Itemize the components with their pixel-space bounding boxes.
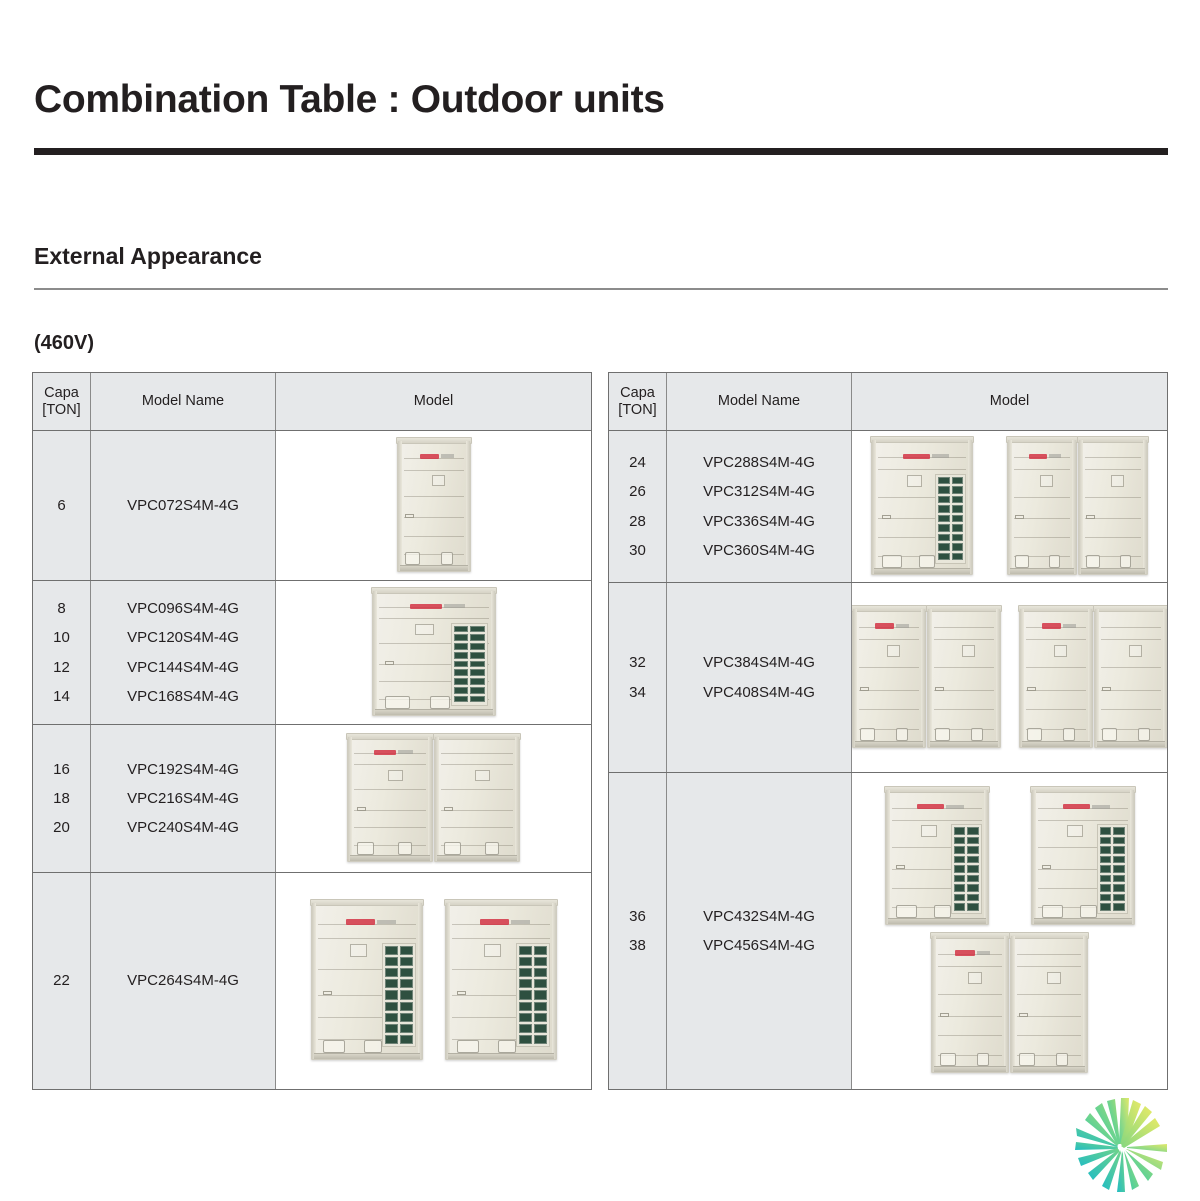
unit-foot (364, 1040, 382, 1053)
outdoor-unit (1094, 608, 1168, 748)
table-header-row-right: Capa [TON] Model Name Model (609, 373, 1167, 431)
grille-tile (952, 543, 964, 551)
unit-grille (516, 943, 550, 1047)
grille-tile (454, 696, 469, 703)
unit-seam (1101, 667, 1161, 668)
unit-seam (1085, 469, 1141, 470)
grille-tile (454, 626, 469, 633)
lennox-wordmark (875, 623, 894, 629)
lennox-wordmark (955, 950, 975, 956)
unit-seam (1038, 820, 1128, 821)
outdoor-unit (397, 440, 471, 572)
unit-artwork-two-wide-grille (276, 873, 591, 1089)
lennox-logo-icon (875, 623, 909, 629)
unit-vent-tick (357, 807, 366, 811)
unit-post-right (1143, 440, 1147, 574)
unit-panel (1008, 440, 1076, 574)
grille-tile (385, 1002, 398, 1011)
unit-foot (919, 555, 935, 568)
unit-seam (404, 496, 464, 497)
unit-base-rail (1034, 918, 1132, 924)
lennox-logo-icon (346, 919, 396, 925)
outdoor-unit (852, 608, 926, 748)
unit-vent-tick (444, 807, 453, 811)
grille-tile (1113, 875, 1125, 883)
unit-seam (859, 639, 919, 640)
outdoor-unit (927, 608, 1001, 748)
unit-access-hatch (1054, 645, 1067, 657)
lennox-tagline (1063, 624, 1076, 628)
unit-access-hatch (475, 770, 490, 781)
grille-tile (1113, 894, 1125, 902)
unit-access-hatch (968, 972, 982, 984)
grille-tile (1113, 846, 1125, 854)
unit-foot (1138, 728, 1150, 741)
grille-tile (470, 634, 485, 641)
column-header-model-name: Model Name (91, 373, 276, 430)
unit-pair (1007, 439, 1148, 575)
unit-foot (977, 1053, 989, 1066)
grille-tile (938, 505, 950, 513)
unit-vent-tick (1015, 515, 1024, 519)
grille-tile (400, 1013, 413, 1022)
grille-tile (952, 486, 964, 494)
unit-base-rail (930, 741, 998, 747)
lennox-tagline (977, 951, 990, 955)
unit-panel (373, 591, 495, 715)
grille-tile (1100, 884, 1112, 892)
table-row: 22 VPC264S4M-4G (33, 873, 591, 1089)
unit-post-right (1072, 440, 1076, 574)
grille-tile (454, 643, 469, 650)
lennox-wordmark (410, 604, 442, 609)
unit-seam (1101, 627, 1161, 628)
table-row: 6 VPC072S4M-4G (33, 431, 591, 581)
unit-seam (354, 789, 426, 790)
capa-header-line2: [TON] (42, 402, 80, 419)
grille-tile (1100, 865, 1112, 873)
unit-foot (405, 552, 420, 565)
unit-access-hatch (1129, 645, 1142, 657)
unit-post-right (1163, 609, 1167, 747)
unit-panel (1079, 440, 1147, 574)
unit-vent-tick (1019, 1013, 1028, 1017)
unit-artwork-single-narrow (276, 431, 591, 580)
cell-model-name: VPC432S4M-4G VPC456S4M-4G (667, 773, 852, 1089)
unit-base-rail (350, 855, 430, 861)
unit-seam (1101, 639, 1161, 640)
unit-seam (1017, 954, 1081, 955)
unit-foot (940, 1053, 956, 1066)
unit-foot (444, 842, 461, 855)
unit-base-rail (855, 741, 923, 747)
unit-panel (932, 936, 1008, 1072)
lennox-logo-icon (1063, 804, 1110, 809)
unit-seam (859, 667, 919, 668)
grille-tile (1113, 837, 1125, 845)
page-title: Combination Table : Outdoor units (34, 78, 665, 122)
unit-base-rail (448, 1053, 554, 1059)
grille-tile (1100, 903, 1112, 911)
grille-tile (967, 903, 979, 911)
grille-tile (938, 534, 950, 542)
unit-seam (892, 820, 982, 821)
unit-seam (354, 764, 426, 765)
unit-post-right (921, 609, 925, 747)
unit-access-hatch (887, 645, 900, 657)
grille-tile (454, 678, 469, 685)
grille-tile (967, 894, 979, 902)
capa-header-line1: Capa (42, 385, 80, 402)
unit-artwork-single-wide-grille (276, 581, 591, 724)
lennox-tagline (896, 624, 909, 628)
unit-access-hatch (388, 770, 403, 781)
cell-model-name: VPC072S4M-4G (91, 431, 276, 580)
unit-vent-tick (860, 687, 869, 691)
cell-model-image (276, 581, 591, 724)
cell-model-image (276, 873, 591, 1089)
grille-tile (938, 496, 950, 504)
unit-seam (441, 827, 513, 828)
cell-capa: 24 26 28 30 (609, 431, 667, 582)
unit-post-right (984, 790, 988, 924)
grille-tile (519, 1024, 532, 1033)
grille-tile (967, 827, 979, 835)
unit-seam (354, 827, 426, 828)
lennox-tagline (377, 920, 396, 924)
outdoor-unit (885, 789, 989, 925)
lennox-tagline (441, 454, 454, 458)
outdoor-unit (311, 902, 423, 1060)
grille-tile (454, 634, 469, 641)
unit-seam (934, 667, 994, 668)
outdoor-unit (1010, 935, 1088, 1073)
grille-tile (954, 875, 966, 883)
unit-base-rail (1081, 568, 1145, 574)
grille-tile (1100, 846, 1112, 854)
lennox-logo-icon (410, 604, 465, 609)
cell-model-name: VPC384S4M-4G VPC408S4M-4G (667, 583, 852, 772)
grille-tile (470, 652, 485, 659)
unit-seam (441, 764, 513, 765)
unit-access-hatch (962, 645, 975, 657)
table-header-row-left: Capa [TON] Model Name Model (33, 373, 591, 431)
lennox-wordmark (1029, 454, 1047, 459)
capa-header-line1: Capa (618, 385, 656, 402)
cell-model-name: VPC264S4M-4G (91, 873, 276, 1089)
grille-tile (952, 496, 964, 504)
unit-post-left (1011, 936, 1015, 1072)
unit-base-rail (375, 709, 493, 715)
unit-seam (441, 753, 513, 754)
grille-tile (519, 990, 532, 999)
unit-foot (357, 842, 374, 855)
unit-seam (878, 469, 966, 470)
unit-panel (1011, 936, 1087, 1072)
unit-panel (446, 903, 556, 1059)
unit-foot (971, 728, 983, 741)
unit-artwork-pair-narrow (276, 725, 591, 872)
section-title: External Appearance (34, 243, 262, 270)
grille-tile (952, 534, 964, 542)
grille-tile (952, 524, 964, 532)
grille-tile (385, 990, 398, 999)
lennox-logo-icon (917, 804, 964, 809)
unit-post-right (968, 440, 972, 574)
unit-seam (1014, 469, 1070, 470)
outdoor-units-table-left: Capa [TON] Model Name Model 6 VPC072S4M-… (32, 372, 592, 1090)
unit-access-hatch (1067, 825, 1083, 837)
title-divider (34, 148, 1168, 155)
grille-tile (967, 856, 979, 864)
unit-post-left (1020, 609, 1024, 747)
grille-tile (385, 1035, 398, 1044)
unit-panel (398, 441, 470, 571)
section-divider (34, 288, 1168, 290)
cell-model-image (852, 583, 1167, 772)
outdoor-unit (1031, 789, 1135, 925)
unit-foot (896, 905, 917, 918)
unit-vent-tick (1102, 687, 1111, 691)
unit-post-left (1095, 609, 1099, 747)
unit-seam (404, 470, 464, 471)
grille-tile (400, 990, 413, 999)
unit-seam (379, 618, 489, 619)
unit-post-left (1008, 440, 1012, 574)
unit-foot (498, 1040, 516, 1053)
grille-tile (954, 903, 966, 911)
unit-artwork-wide-grille-plus-pair (852, 431, 1167, 582)
unit-foot (485, 842, 499, 855)
cell-capa: 16 18 20 (33, 725, 91, 872)
lennox-logo-icon (1029, 454, 1061, 459)
unit-base-rail (888, 918, 986, 924)
lennox-wordmark (420, 454, 439, 459)
lennox-logo-icon (1042, 623, 1076, 629)
unit-access-hatch (1111, 475, 1124, 487)
unit-seam (934, 627, 994, 628)
lennox-tagline (1049, 454, 1061, 458)
outdoor-unit (1007, 439, 1077, 575)
grille-tile (470, 661, 485, 668)
grille-tile (534, 979, 547, 988)
unit-base-rail (874, 568, 970, 574)
unit-post-left (853, 609, 857, 747)
unit-panel (853, 609, 925, 747)
grille-tile (519, 1013, 532, 1022)
unit-foot (1056, 1053, 1068, 1066)
grille-tile (519, 968, 532, 977)
grille-tile (470, 669, 485, 676)
lennox-logo-icon (955, 950, 990, 956)
grille-tile (954, 837, 966, 845)
grille-tile (470, 696, 485, 703)
grille-tile (400, 957, 413, 966)
lennox-logo-icon (480, 919, 530, 925)
unit-vent-tick (1027, 687, 1036, 691)
unit-post-left (446, 903, 450, 1059)
cell-capa: 32 34 (609, 583, 667, 772)
grille-tile (1113, 884, 1125, 892)
grille-tile (1100, 875, 1112, 883)
unit-foot (1102, 728, 1117, 741)
unit-panel (886, 790, 988, 924)
cell-capa: 22 (33, 873, 91, 1089)
table-row: 36 38 VPC432S4M-4G VPC456S4M-4G (609, 773, 1167, 1089)
grille-tile (1100, 837, 1112, 845)
grille-tile (534, 990, 547, 999)
unit-post-left (928, 609, 932, 747)
unit-post-left (1079, 440, 1083, 574)
unit-seam (1026, 709, 1086, 710)
lennox-tagline (1092, 805, 1110, 809)
grille-tile (454, 661, 469, 668)
grille-tile (967, 865, 979, 873)
unit-foot (934, 905, 951, 918)
unit-pair (1019, 608, 1168, 748)
grille-tile (952, 505, 964, 513)
unit-post-right (418, 903, 422, 1059)
unit-base-rail (934, 1066, 1006, 1072)
unit-seam (1017, 994, 1081, 995)
grille-tile (454, 669, 469, 676)
unit-seam (934, 639, 994, 640)
outdoor-unit (347, 736, 433, 862)
unit-post-left (435, 737, 439, 861)
unit-group-top (885, 789, 1135, 925)
unit-panel (872, 440, 972, 574)
cell-model-image (852, 431, 1167, 582)
lennox-tagline (398, 750, 413, 754)
grille-tile (454, 652, 469, 659)
lennox-wordmark (480, 919, 509, 925)
grille-tile (534, 1024, 547, 1033)
grille-tile (385, 1013, 398, 1022)
grille-tile (534, 1035, 547, 1044)
lennox-tagline (511, 920, 530, 924)
unit-foot (1120, 555, 1131, 568)
unit-access-hatch (432, 475, 445, 486)
unit-foot (1019, 1053, 1035, 1066)
grille-tile (938, 515, 950, 523)
unit-seam (1101, 709, 1161, 710)
unit-seam (1014, 497, 1070, 498)
unit-access-hatch (1047, 972, 1061, 984)
outdoor-unit (445, 902, 557, 1060)
grille-tile (519, 957, 532, 966)
unit-post-left (312, 903, 316, 1059)
table-row: 32 34 VPC384S4M-4G VPC408S4M-4G (609, 583, 1167, 773)
unit-grille (951, 824, 982, 914)
unit-access-hatch (415, 624, 434, 635)
unit-seam (1017, 1035, 1081, 1036)
grille-tile (534, 957, 547, 966)
grille-tile (519, 1035, 532, 1044)
grille-tile (534, 1002, 547, 1011)
lennox-tagline (444, 604, 465, 608)
unit-panel (1020, 609, 1092, 747)
grille-tile (938, 524, 950, 532)
lennox-logo-icon (420, 454, 454, 459)
lennox-wordmark (903, 454, 930, 459)
unit-post-right (515, 737, 519, 861)
unit-grille (451, 623, 488, 706)
radial-burst-logo-icon (1062, 1092, 1184, 1196)
unit-foot (935, 728, 950, 741)
lennox-logo-icon (903, 454, 949, 459)
unit-seam (859, 709, 919, 710)
unit-panel (1095, 609, 1167, 747)
grille-tile (400, 1024, 413, 1033)
grille-tile (454, 687, 469, 694)
unit-seam (938, 994, 1002, 995)
grille-tile (400, 979, 413, 988)
unit-seam (1085, 537, 1141, 538)
unit-foot (1063, 728, 1075, 741)
grille-tile (954, 846, 966, 854)
grille-tile (1100, 894, 1112, 902)
unit-seam (452, 938, 550, 939)
cell-model-name: VPC096S4M-4G VPC120S4M-4G VPC144S4M-4G V… (91, 581, 276, 724)
grille-tile (519, 946, 532, 955)
unit-foot (1049, 555, 1060, 568)
grille-tile (938, 553, 950, 561)
grille-tile (952, 553, 964, 561)
unit-vent-tick (935, 687, 944, 691)
grille-tile (967, 884, 979, 892)
column-header-model: Model (852, 373, 1167, 430)
unit-post-left (872, 440, 876, 574)
grille-tile (938, 477, 950, 485)
unit-seam (404, 536, 464, 537)
unit-vent-tick (1086, 515, 1095, 519)
grille-tile (967, 846, 979, 854)
unit-post-right (1004, 936, 1008, 1072)
column-header-model: Model (276, 373, 591, 430)
unit-panel (312, 903, 422, 1059)
unit-seam (1085, 457, 1141, 458)
unit-vent-tick (882, 515, 891, 519)
unit-pair (931, 935, 1088, 1073)
grille-tile (1113, 903, 1125, 911)
grille-tile (938, 486, 950, 494)
unit-vent-tick (457, 991, 466, 995)
unit-pair (852, 608, 1001, 748)
unit-foot (1042, 905, 1063, 918)
lennox-wordmark (374, 750, 396, 755)
grille-tile (519, 1002, 532, 1011)
unit-post-left (932, 936, 936, 1072)
unit-vent-tick (323, 991, 332, 995)
grille-tile (470, 678, 485, 685)
unit-vent-tick (896, 865, 905, 869)
unit-artwork-two-pairs-narrow (852, 583, 1167, 772)
unit-post-right (1130, 790, 1134, 924)
unit-base-rail (1022, 741, 1090, 747)
unit-grille (935, 474, 966, 564)
grille-tile (938, 543, 950, 551)
unit-seam (934, 709, 994, 710)
unit-vent-tick (385, 661, 394, 665)
unit-panel (928, 609, 1000, 747)
grille-tile (952, 477, 964, 485)
unit-post-right (996, 609, 1000, 747)
cell-model-image (276, 431, 591, 580)
grille-tile (967, 837, 979, 845)
unit-post-right (552, 903, 556, 1059)
unit-panel (1032, 790, 1134, 924)
unit-foot (896, 728, 908, 741)
